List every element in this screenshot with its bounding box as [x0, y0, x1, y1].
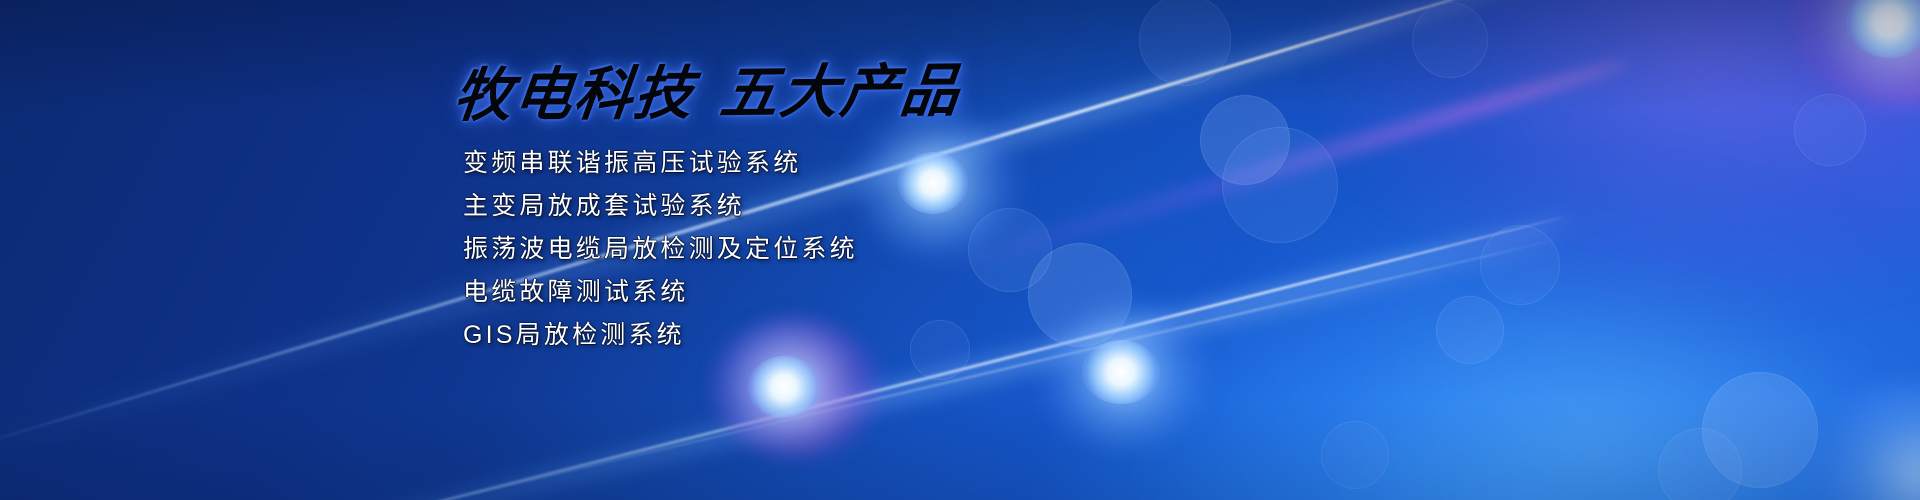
bokeh-disc-11 [1702, 372, 1818, 488]
product-list-item[interactable]: 电缆故障测试系统 [463, 271, 858, 314]
product-list-item[interactable]: 主变局放成套试验系统 [463, 185, 858, 228]
bokeh-disc-4 [1222, 127, 1338, 243]
product-list-item[interactable]: 变频串联谐振高压试验系统 [463, 142, 858, 185]
bokeh-disc-10 [1794, 94, 1866, 166]
banner-title-part-one: 牧电科技 [450, 61, 698, 129]
bokeh-disc-2 [1412, 2, 1488, 78]
banner-title-part-two: 五大产品 [717, 58, 965, 126]
flare-top-right-glow [1810, 0, 1920, 90]
bokeh-disc-13 [1321, 421, 1389, 489]
promo-banner: 牧电科技五大产品 变频串联谐振高压试验系统 主变局放成套试验系统 振荡波电缆局放… [0, 0, 1920, 500]
flare-far-bottom-right-glow [1800, 380, 1920, 500]
flare-top-right-magenta [1792, 0, 1920, 108]
flare-top-right-core [1846, 0, 1920, 58]
product-list-item[interactable]: 振荡波电缆局放检测及定位系统 [463, 228, 858, 271]
light-wash-bottom-right [1140, 160, 1920, 500]
banner-content: 牧电科技五大产品 变频串联谐振高压试验系统 主变局放成套试验系统 振荡波电缆局放… [455, 0, 1095, 500]
product-list: 变频串联谐振高压试验系统 主变局放成套试验系统 振荡波电缆局放检测及定位系统 电… [463, 142, 858, 357]
bokeh-disc-3 [1200, 95, 1290, 185]
bokeh-disc-7 [1480, 225, 1560, 305]
bokeh-disc-8 [1436, 296, 1504, 364]
banner-title: 牧电科技五大产品 [450, 43, 966, 132]
light-wash-top-right [1320, 0, 1920, 320]
product-list-item[interactable]: GIS局放检测系统 [463, 314, 858, 357]
bokeh-disc-1 [1139, 0, 1231, 86]
bokeh-disc-12 [1658, 428, 1742, 500]
